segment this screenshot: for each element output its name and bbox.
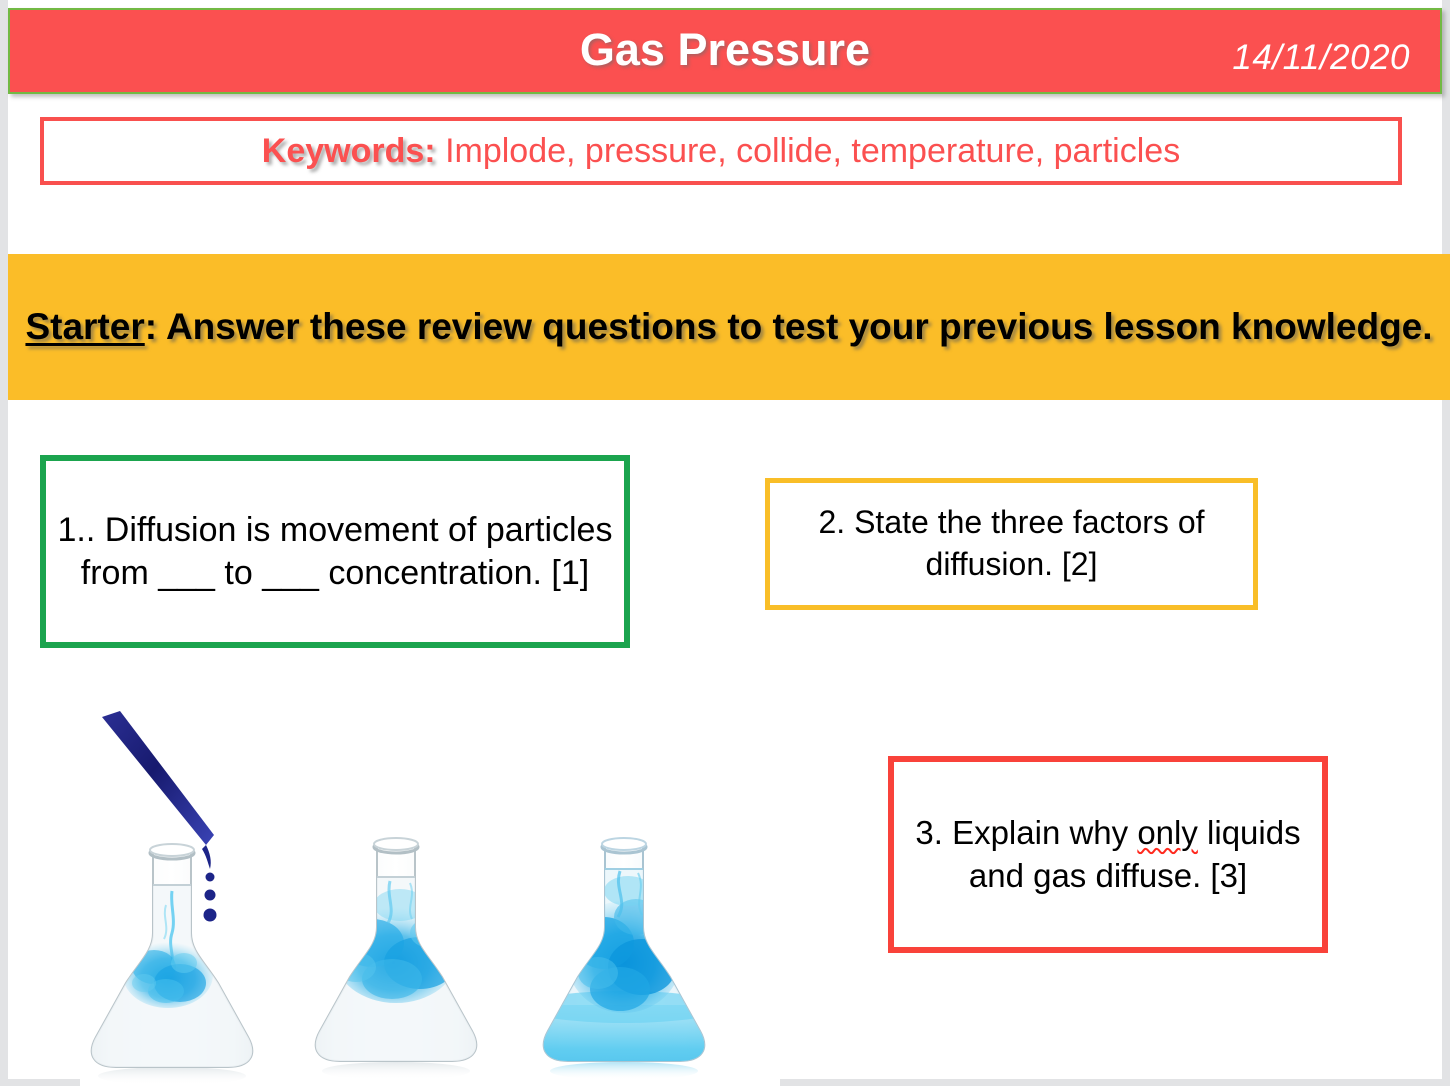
question-2-text: 2. State the three factors of diffusion.… xyxy=(778,502,1245,585)
question-3-prefix: 3. Explain why xyxy=(915,814,1137,851)
keywords-box: Keywords: Implode, pressure, collide, te… xyxy=(40,117,1402,185)
starter-instruction: Starter: Answer these review questions t… xyxy=(25,306,1432,349)
page-title: Gas Pressure xyxy=(10,24,1440,76)
starter-banner: Starter: Answer these review questions t… xyxy=(8,254,1450,400)
lesson-date: 14/11/2020 xyxy=(1232,38,1410,78)
keywords-line: Keywords: Implode, pressure, collide, te… xyxy=(262,134,1180,168)
question-3-emphasis: only xyxy=(1137,814,1198,851)
starter-label: Starter xyxy=(25,306,144,347)
question-3-box: 3. Explain why only liquids and gas diff… xyxy=(888,756,1328,953)
slide-left-edge xyxy=(0,0,8,1086)
question-2-box: 2. State the three factors of diffusion.… xyxy=(765,478,1258,610)
keywords-list: Implode, pressure, collide, temperature,… xyxy=(436,132,1181,170)
slide-right-edge xyxy=(1442,0,1450,1086)
keywords-label: Keywords: xyxy=(262,132,436,170)
three-flasks-diffusion-photo xyxy=(80,705,780,1086)
question-1-box: 1.. Diffusion is movement of particles f… xyxy=(40,455,630,648)
question-1-text: 1.. Diffusion is movement of particles f… xyxy=(56,509,614,594)
question-3-text: 3. Explain why only liquids and gas diff… xyxy=(904,812,1312,896)
slide-root: Gas Pressure 14/11/2020 Keywords: Implod… xyxy=(0,0,1450,1086)
starter-body: : Answer these review questions to test … xyxy=(145,306,1433,347)
title-bar: Gas Pressure 14/11/2020 xyxy=(8,8,1442,94)
